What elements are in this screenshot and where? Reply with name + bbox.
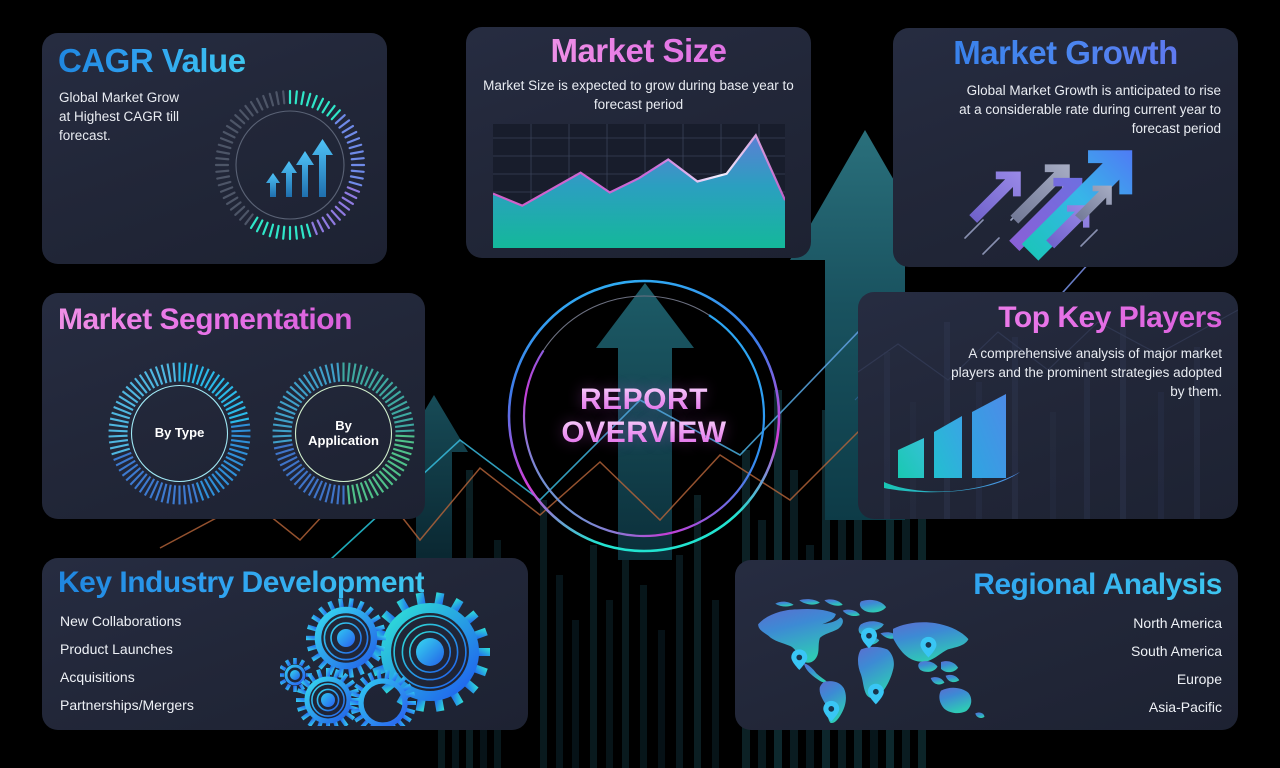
ring-gauge-arrows-icon xyxy=(210,85,370,245)
top-key-players-title: Top Key Players xyxy=(858,302,1238,334)
donut-by-type[interactable]: By Type xyxy=(106,360,253,507)
list-item[interactable]: South America xyxy=(1131,644,1222,658)
cagr-title: CAGR Value xyxy=(58,44,246,79)
rising-arrows-icon xyxy=(955,146,1195,266)
map-pin-africa xyxy=(868,684,884,705)
market-size-description: Market Size is expected to grow during b… xyxy=(466,76,811,114)
list-item[interactable]: Partnerships/Mergers xyxy=(60,698,194,712)
market-growth-title: Market Growth xyxy=(893,36,1238,71)
card-top-key-players[interactable]: Top Key Players A comprehensive analysis… xyxy=(858,292,1238,519)
map-pin-north-america xyxy=(791,649,807,670)
list-item[interactable]: Acquisitions xyxy=(60,670,194,684)
regional-analysis-list: North AmericaSouth AmericaEuropeAsia-Pac… xyxy=(1131,616,1222,728)
world-map-icon xyxy=(749,592,989,724)
overview-line2: OVERVIEW xyxy=(561,418,726,448)
overview-line1: REPORT xyxy=(580,385,708,415)
report-overview-text: REPORT OVERVIEW xyxy=(503,275,785,557)
list-item[interactable]: New Collaborations xyxy=(60,614,194,628)
market-growth-description: Global Market Growth is anticipated to r… xyxy=(893,81,1238,138)
cagr-description: Global Market Grow at Highest CAGR till … xyxy=(59,88,194,145)
list-item[interactable]: North America xyxy=(1131,616,1222,630)
list-item[interactable]: Product Launches xyxy=(60,642,194,656)
gears-icon xyxy=(280,590,492,726)
map-pin-europe xyxy=(861,628,877,649)
card-market-size[interactable]: Market Size Market Size is expected to g… xyxy=(466,27,811,258)
card-cagr-value[interactable]: CAGR Value Global Market Grow at Highest… xyxy=(42,33,387,264)
area-chart-icon xyxy=(493,124,785,248)
bar-chart-icon xyxy=(880,392,1050,502)
card-market-segmentation[interactable]: Market Segmentation By Type xyxy=(42,293,425,519)
infographic-root: CAGR Value Global Market Grow at Highest… xyxy=(0,0,1280,768)
card-regional-analysis[interactable]: Regional Analysis North AmericaSouth Ame… xyxy=(735,560,1238,730)
report-overview-circle[interactable]: REPORT OVERVIEW xyxy=(503,275,785,557)
card-market-growth[interactable]: Market Growth Global Market Growth is an… xyxy=(893,28,1238,267)
list-item[interactable]: Europe xyxy=(1131,672,1222,686)
donut-by-application[interactable]: By Application xyxy=(270,360,417,507)
market-size-title: Market Size xyxy=(466,34,811,69)
card-key-industry-development[interactable]: Key Industry Development New Collaborati… xyxy=(42,558,528,730)
list-item[interactable]: Asia-Pacific xyxy=(1131,700,1222,714)
key-industry-development-list: New CollaborationsProduct LaunchesAcquis… xyxy=(60,614,194,726)
market-segmentation-title: Market Segmentation xyxy=(58,304,352,336)
